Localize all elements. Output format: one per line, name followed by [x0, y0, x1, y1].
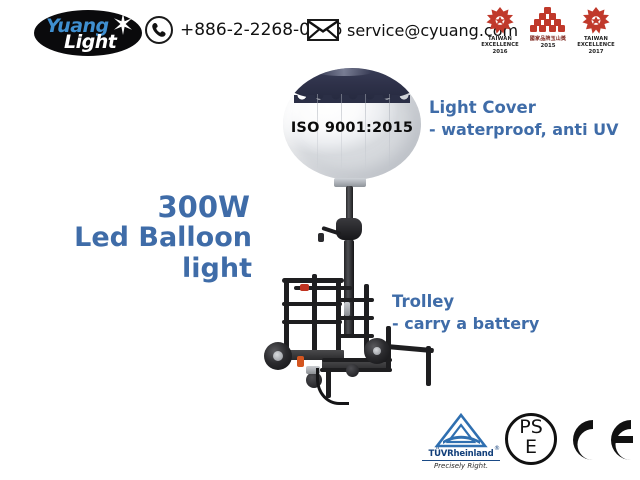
certification-ce [563, 415, 635, 465]
page-title-product: Led Balloon light [0, 222, 252, 284]
trolley-cart [260, 272, 440, 400]
certification-marks: TÜVRheinland ® Precisely Right. PS E [415, 405, 635, 477]
registered-trademark-mark: ® [494, 445, 500, 452]
header-bar: Yuang Light +886-2-2268-0546 service@cyu… [0, 0, 640, 62]
page-title-wattage: 300W [0, 190, 250, 224]
product-photo: ISO 9001:2015 [250, 60, 450, 400]
winch-body [336, 218, 362, 240]
taiwan-national-brand-yushan-award-icon [530, 6, 566, 39]
award-line2: EXCELLENCE [570, 43, 622, 48]
iso-certification-label: ISO 9001:2015 [283, 120, 421, 136]
balloon-light-head: ISO 9001:2015 [283, 68, 421, 183]
award-caption: TAIWAN EXCELLENCE 2016 [474, 37, 526, 55]
tuv-rheinland-tagline: Precisely Right. [420, 462, 502, 470]
ce-mark-icon [563, 452, 635, 469]
callout-light-cover-description: - waterproof, anti UV [429, 120, 619, 139]
award-badge-taiwan-excellence-2016: TAIWAN EXCELLENCE 2016 [474, 6, 526, 56]
sparkle-star-icon [112, 13, 134, 35]
award-line1: 國家品牌玉山獎 [522, 37, 574, 42]
certification-tuv-rheinland: TÜVRheinland ® Precisely Right. [420, 413, 502, 471]
tuv-rheinland-triangle-icon [434, 413, 488, 454]
award-caption: TAIWAN EXCELLENCE 2017 [570, 37, 622, 55]
cap-highlight [316, 68, 372, 76]
product-marketing-image: Yuang Light +886-2-2268-0546 service@cyu… [0, 0, 640, 480]
award-line2: EXCELLENCE [474, 43, 526, 48]
award-year: 2016 [474, 50, 526, 55]
award-badge-yushan-2015: 國家品牌玉山獎 2015 [522, 6, 574, 56]
pse-line1: PS [508, 418, 554, 437]
logo-name-bottom: Light [64, 31, 116, 53]
envelope-icon [307, 19, 339, 41]
award-caption: 國家品牌玉山獎 2015 [522, 37, 574, 49]
pse-line2: E [508, 438, 554, 457]
phone-in-circle-icon [145, 16, 173, 44]
winch-crank-handle [318, 233, 324, 242]
yuang-light-logo: Yuang Light [34, 10, 142, 56]
award-year: 2017 [570, 50, 622, 55]
balloon-top-cap [290, 68, 414, 100]
tuv-rheinland-name: TÜVRheinland [420, 449, 502, 459]
award-year: 2015 [522, 44, 574, 49]
award-badge-taiwan-excellence-2017: TAIWAN EXCELLENCE 2017 [570, 6, 622, 56]
certification-pse: PS E [505, 413, 557, 465]
